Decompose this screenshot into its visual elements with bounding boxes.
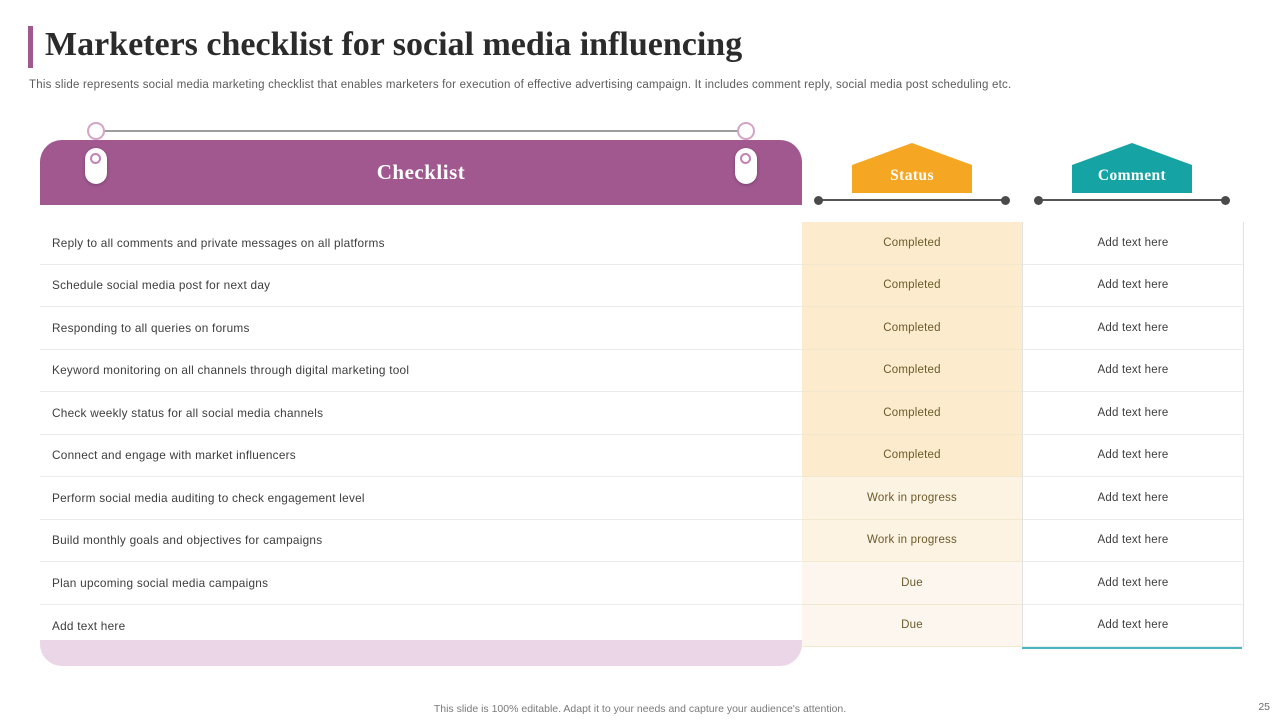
comment-cell[interactable]: Add text here bbox=[1023, 605, 1243, 648]
checklist-task-label: Perform social media auditing to check e… bbox=[40, 491, 365, 505]
status-cell-list: CompletedCompletedCompletedCompletedComp… bbox=[802, 222, 1022, 647]
status-badge[interactable]: Completed bbox=[802, 222, 1022, 265]
table-row[interactable]: Responding to all queries on forums bbox=[40, 307, 802, 350]
clipboard-pin-right-icon bbox=[737, 122, 755, 140]
clipboard-hole-right-icon bbox=[740, 153, 751, 164]
checklist-row-list: Reply to all comments and private messag… bbox=[40, 222, 802, 647]
table-row[interactable]: Connect and engage with market influence… bbox=[40, 435, 802, 478]
table-row[interactable]: Keyword monitoring on all channels throu… bbox=[40, 350, 802, 393]
comment-rail-dot-left-icon bbox=[1034, 196, 1043, 205]
checklist-header: Checklist bbox=[40, 140, 802, 205]
comment-column-underline bbox=[1022, 647, 1242, 649]
table-row[interactable]: Add text here bbox=[40, 605, 802, 648]
status-badge[interactable]: Completed bbox=[802, 265, 1022, 308]
status-badge[interactable]: Completed bbox=[802, 307, 1022, 350]
page-title: Marketers checklist for social media inf… bbox=[28, 24, 742, 68]
table-row[interactable]: Build monthly goals and objectives for c… bbox=[40, 520, 802, 563]
title-accent-bar bbox=[28, 26, 33, 68]
clipboard-hole-left-icon bbox=[90, 153, 101, 164]
footer-note: This slide is 100% editable. Adapt it to… bbox=[0, 703, 1280, 715]
status-rail bbox=[818, 199, 1006, 201]
checklist-task-label: Build monthly goals and objectives for c… bbox=[40, 533, 322, 547]
checklist-task-label: Check weekly status for all social media… bbox=[40, 406, 323, 420]
status-badge[interactable]: Work in progress bbox=[802, 520, 1022, 563]
clipboard-pin-left-icon bbox=[87, 122, 105, 140]
page-title-text: Marketers checklist for social media inf… bbox=[45, 24, 742, 66]
comment-tag: Comment bbox=[1072, 143, 1192, 193]
comment-cell[interactable]: Add text here bbox=[1023, 392, 1243, 435]
checklist-task-label: Connect and engage with market influence… bbox=[40, 448, 296, 462]
comment-cell[interactable]: Add text here bbox=[1023, 350, 1243, 393]
table-row[interactable]: Schedule social media post for next day bbox=[40, 265, 802, 308]
table-row[interactable]: Plan upcoming social media campaigns bbox=[40, 562, 802, 605]
page-subtitle: This slide represents social media marke… bbox=[29, 79, 1011, 91]
status-rail-dot-left-icon bbox=[814, 196, 823, 205]
comment-cell[interactable]: Add text here bbox=[1023, 562, 1243, 605]
status-badge[interactable]: Completed bbox=[802, 392, 1022, 435]
status-tag-label: Status bbox=[852, 167, 972, 185]
comment-cell-list: Add text hereAdd text hereAdd text hereA… bbox=[1022, 222, 1244, 647]
status-column-header: Status bbox=[802, 143, 1022, 193]
table-row[interactable]: Reply to all comments and private messag… bbox=[40, 222, 802, 265]
comment-cell[interactable]: Add text here bbox=[1023, 265, 1243, 308]
comment-cell[interactable]: Add text here bbox=[1023, 307, 1243, 350]
status-badge[interactable]: Completed bbox=[802, 435, 1022, 478]
table-row[interactable]: Check weekly status for all social media… bbox=[40, 392, 802, 435]
comment-tag-label: Comment bbox=[1072, 167, 1192, 185]
checklist-task-label: Schedule social media post for next day bbox=[40, 278, 270, 292]
status-badge[interactable]: Due bbox=[802, 605, 1022, 648]
comment-cell[interactable]: Add text here bbox=[1023, 477, 1243, 520]
status-rail-dot-right-icon bbox=[1001, 196, 1010, 205]
checklist-task-label: Reply to all comments and private messag… bbox=[40, 236, 385, 250]
status-tag: Status bbox=[852, 143, 972, 193]
checklist-task-label: Add text here bbox=[40, 619, 125, 633]
checklist-header-label: Checklist bbox=[377, 160, 466, 185]
comment-rail-dot-right-icon bbox=[1221, 196, 1230, 205]
status-badge[interactable]: Due bbox=[802, 562, 1022, 605]
comment-cell[interactable]: Add text here bbox=[1023, 520, 1243, 563]
comment-cell[interactable]: Add text here bbox=[1023, 435, 1243, 478]
checklist-task-label: Responding to all queries on forums bbox=[40, 321, 250, 335]
comment-column-header: Comment bbox=[1022, 143, 1242, 193]
status-badge[interactable]: Completed bbox=[802, 350, 1022, 393]
checklist-task-label: Plan upcoming social media campaigns bbox=[40, 576, 268, 590]
clipboard-rail bbox=[96, 130, 746, 132]
status-badge[interactable]: Work in progress bbox=[802, 477, 1022, 520]
table-row[interactable]: Perform social media auditing to check e… bbox=[40, 477, 802, 520]
comment-rail bbox=[1038, 199, 1226, 201]
checklist-task-label: Keyword monitoring on all channels throu… bbox=[40, 363, 409, 377]
page-number: 25 bbox=[1258, 701, 1270, 713]
comment-cell[interactable]: Add text here bbox=[1023, 222, 1243, 265]
